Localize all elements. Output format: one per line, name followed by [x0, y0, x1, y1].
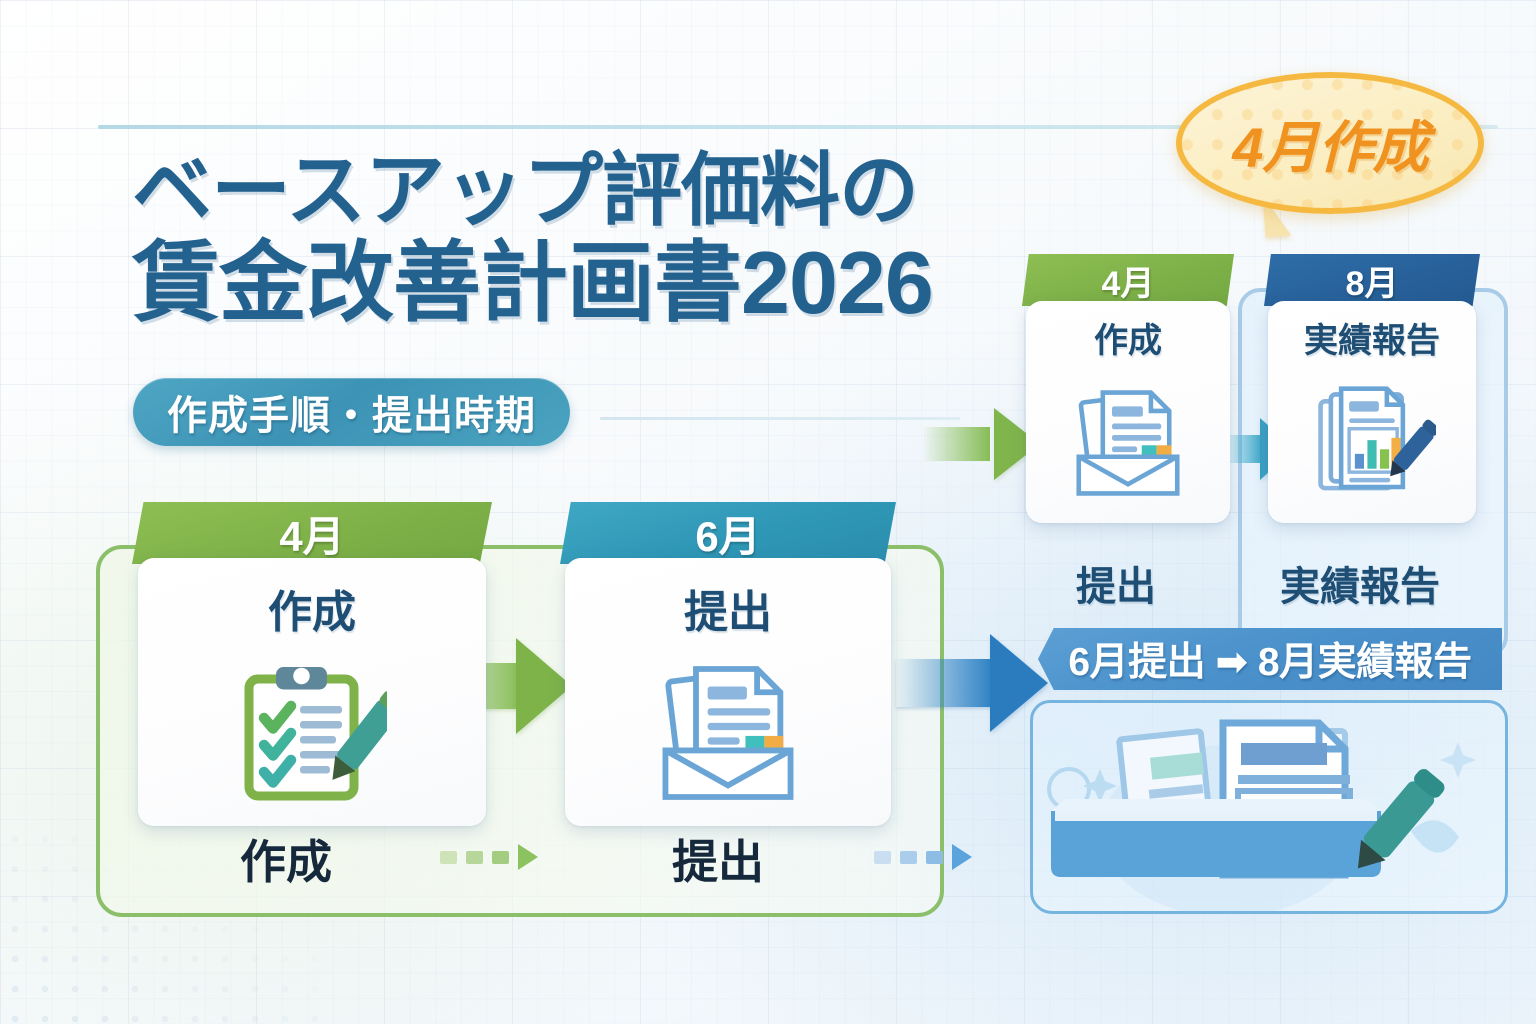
card-month-tab: 8月 [1264, 254, 1480, 306]
dashed-arrow-submit-to-report-icon [874, 844, 972, 870]
card-april-create-right[interactable]: 4月 作成 [1022, 254, 1234, 523]
page-title: ベースアップ評価料の 賃金改善計画書2026 [132, 150, 962, 327]
subtitle-divider-line [600, 417, 960, 420]
caption-submit: 提出 [1076, 554, 1156, 612]
card-label: 作成 [268, 576, 356, 640]
card-body: 実績報告 [1268, 301, 1476, 523]
card-body: 提出 [565, 558, 891, 826]
envelope-document-icon [1065, 362, 1191, 523]
card-month-tab: 6月 [560, 502, 896, 564]
flow-label-submit: 提出 [672, 826, 764, 892]
report-chart-pencil-icon [1308, 362, 1436, 523]
card-body: 作成 [138, 558, 486, 826]
speech-bubble: 4月作成 [1176, 72, 1484, 214]
card-april-create[interactable]: 4月 作成 [132, 502, 492, 826]
card-label: 作成 [1094, 313, 1162, 362]
caption-report: 実績報告 [1280, 554, 1440, 612]
clipboard-check-icon [237, 640, 387, 826]
title-line-1: ベースアップ評価料の [132, 150, 962, 232]
arrow-submit-to-result-icon [896, 634, 1048, 732]
card-month-tab: 4月 [132, 502, 492, 564]
tray-documents-chart-pencil-icon [1033, 703, 1508, 914]
card-august-report[interactable]: 8月 実績報告 [1264, 254, 1480, 523]
card-label: 提出 [684, 576, 772, 640]
subtitle-badge: 作成手順・提出時期 [133, 378, 570, 446]
card-june-submit[interactable]: 6月 提出 [560, 502, 896, 826]
speech-bubble-text: 4月作成 [1176, 72, 1484, 214]
card-body: 作成 [1026, 301, 1230, 523]
card-month-tab: 4月 [1022, 254, 1234, 306]
flow-label-create: 作成 [240, 826, 332, 892]
card-label: 実績報告 [1304, 313, 1440, 362]
dashed-arrow-create-to-submit-icon [440, 844, 538, 870]
title-line-2: 賃金改善計画書2026 [132, 238, 962, 328]
envelope-document-icon [648, 640, 808, 826]
result-banner: 6月提出 ➡ 8月実績報告 [1038, 628, 1502, 690]
decorative-illustration-panel [1030, 700, 1508, 914]
